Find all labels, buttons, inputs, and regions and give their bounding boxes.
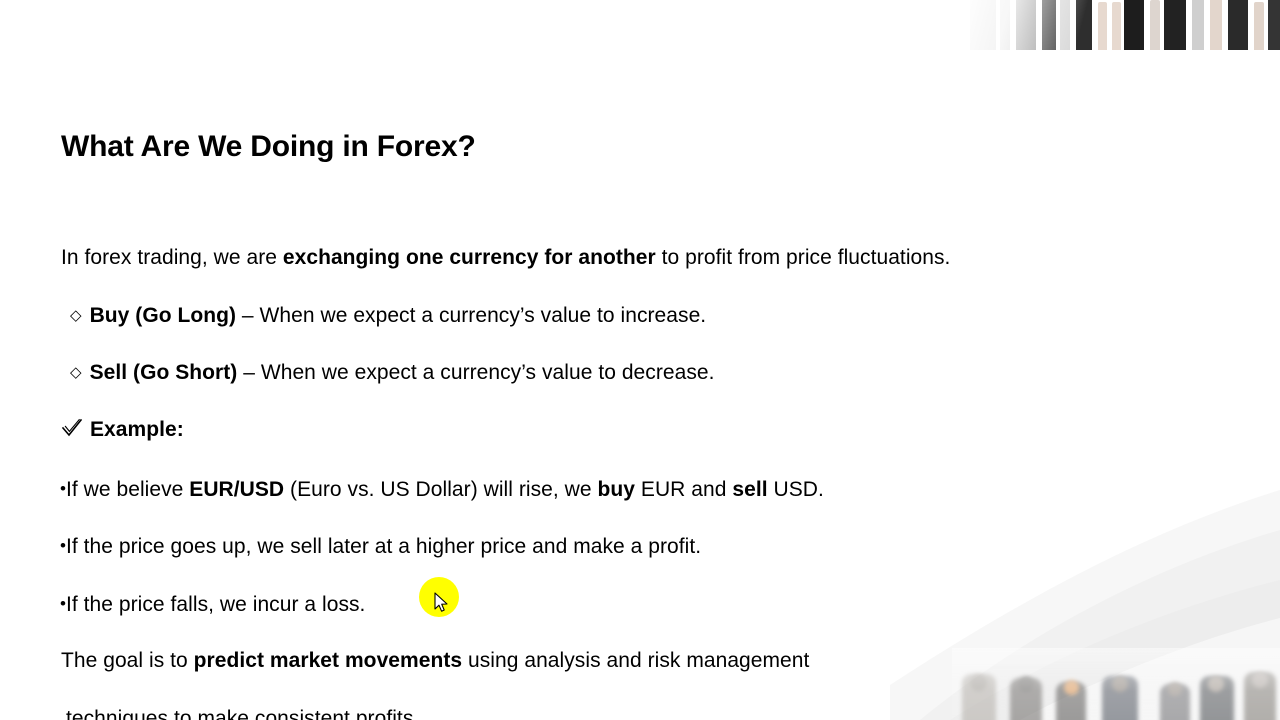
intro-text-pre: In forex trading, we are bbox=[61, 246, 283, 269]
bullet-sell-label: Sell (Go Short) bbox=[90, 361, 238, 384]
profit-text: If the price goes up, we sell later at a… bbox=[66, 535, 701, 558]
mouse-cursor bbox=[434, 592, 450, 614]
bullet-sell-text: – When we expect a currency’s value to d… bbox=[237, 361, 714, 384]
eurusd-sell: sell bbox=[732, 478, 767, 501]
conclusion-bold: predict market movements bbox=[194, 649, 462, 672]
eurusd-buy: buy bbox=[598, 478, 636, 501]
example-item-eurusd: •If we believe EUR/USD (Euro vs. US Doll… bbox=[60, 476, 824, 503]
bullet-sell: ◇Sell (Go Short) – When we expect a curr… bbox=[70, 360, 715, 386]
eurusd-seg1: If we believe bbox=[66, 478, 189, 501]
diamond-bullet-icon: ◇ bbox=[70, 307, 82, 324]
check-mark-icon bbox=[61, 418, 83, 439]
conclusion-line-1: The goal is to predict market movements … bbox=[61, 648, 809, 674]
intro-text-post: to profit from price fluctuations. bbox=[656, 246, 951, 269]
example-item-loss: •If the price falls, we incur a loss. bbox=[60, 591, 365, 618]
eurusd-seg2: (Euro vs. US Dollar) will rise, we bbox=[284, 478, 597, 501]
diamond-bullet-icon: ◇ bbox=[70, 364, 82, 381]
example-heading: Example: bbox=[61, 417, 184, 443]
bullet-buy-label: Buy (Go Long) bbox=[90, 304, 236, 327]
intro-paragraph: In forex trading, we are exchanging one … bbox=[61, 245, 950, 271]
intro-text-bold: exchanging one currency for another bbox=[283, 246, 656, 269]
eurusd-pair: EUR/USD bbox=[189, 478, 284, 501]
page-title: What Are We Doing in Forex? bbox=[61, 130, 476, 164]
conclusion-post: using analysis and risk management bbox=[462, 649, 809, 672]
conclusion-pre: The goal is to bbox=[61, 649, 194, 672]
example-item-profit: •If the price goes up, we sell later at … bbox=[60, 533, 701, 560]
eurusd-seg4: USD. bbox=[768, 478, 824, 501]
slide-canvas: What Are We Doing in Forex? In forex tra… bbox=[0, 0, 1280, 720]
example-heading-label: Example: bbox=[90, 418, 184, 441]
photo-bottom-veil bbox=[952, 648, 1280, 720]
eurusd-seg3: EUR and bbox=[635, 478, 732, 501]
loss-text: If the price falls, we incur a loss. bbox=[66, 593, 365, 616]
bullet-buy-text: – When we expect a currency’s value to i… bbox=[236, 304, 706, 327]
business-people-photo-bottom bbox=[952, 648, 1280, 720]
business-people-photo-top bbox=[806, 0, 1280, 50]
bullet-buy: ◇Buy (Go Long) – When we expect a curren… bbox=[70, 303, 706, 329]
photo-top-fade bbox=[806, 0, 1280, 50]
conclusion-line-2: techniques to make consistent profits. bbox=[66, 706, 419, 720]
